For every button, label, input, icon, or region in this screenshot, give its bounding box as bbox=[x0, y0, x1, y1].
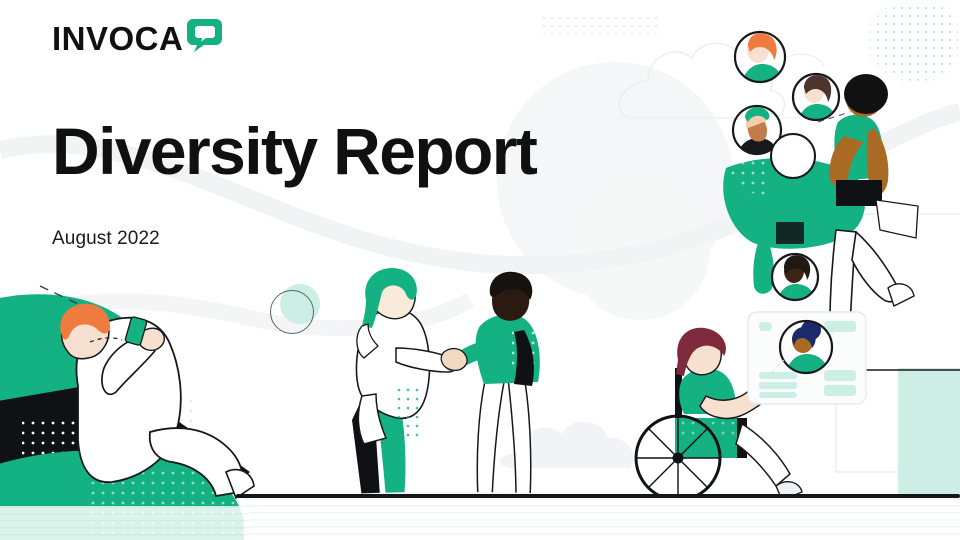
card-bar-l1 bbox=[759, 372, 797, 379]
card-bar-tr bbox=[824, 321, 856, 332]
page-subtitle: August 2022 bbox=[52, 228, 160, 250]
card-bar-r1 bbox=[824, 370, 856, 381]
card-chip bbox=[759, 322, 772, 331]
invoca-logo[interactable]: INVOCA bbox=[52, 22, 223, 56]
outline-circle bbox=[270, 290, 314, 334]
page-title: Diversity Report bbox=[52, 114, 536, 188]
card-bar-l2 bbox=[759, 382, 797, 389]
stripe-band-left bbox=[0, 506, 250, 540]
card-bar-r2 bbox=[824, 385, 856, 396]
slide-root: INVOCA Diversity Report August 2022 bbox=[0, 0, 960, 540]
profile-card[interactable] bbox=[0, 0, 960, 540]
speech-bubble-icon bbox=[185, 18, 223, 54]
card-bar-l3 bbox=[759, 392, 797, 398]
logo-wordmark: INVOCA bbox=[52, 22, 183, 56]
stripe-band bbox=[244, 498, 960, 540]
